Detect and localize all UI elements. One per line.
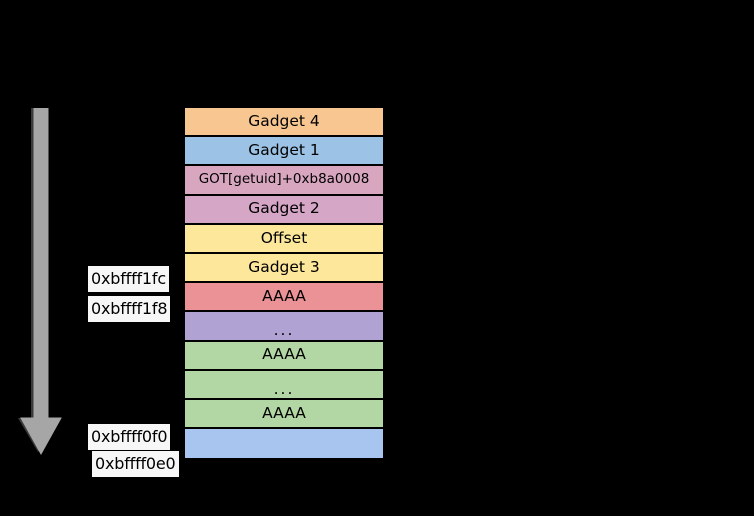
stack-row-label: ... xyxy=(274,323,295,339)
stack-row: AAAA xyxy=(185,400,383,429)
address-label-0xbffff1f8: 0xbffff1f8 xyxy=(88,296,170,322)
rop-chain-stack: Gadget 4Gadget 1GOT[getuid]+0xb8a0008Gad… xyxy=(183,106,385,460)
stack-row: Gadget 4 xyxy=(185,108,383,137)
address-label-0xbffff1fc: 0xbffff1fc xyxy=(88,266,169,292)
stack-growth-arrow-body xyxy=(14,108,70,468)
stack-row-label: AAAA xyxy=(262,289,306,305)
stack-row: ... xyxy=(185,312,383,341)
stack-row-label: ... xyxy=(274,382,295,398)
stack-row-label: AAAA xyxy=(262,347,306,363)
stack-row: Gadget 1 xyxy=(185,137,383,166)
stack-row: GOT[getuid]+0xb8a0008 xyxy=(185,166,383,195)
stack-row-label: Gadget 2 xyxy=(248,201,320,217)
address-label-0xbffff0f0: 0xbffff0f0 xyxy=(88,424,170,450)
stack-row: Gadget 2 xyxy=(185,196,383,225)
stack-row: AAAA xyxy=(185,283,383,312)
stack-row: Offset xyxy=(185,225,383,254)
stack-row-label: GOT[getuid]+0xb8a0008 xyxy=(199,173,370,187)
stack-growth-arrow xyxy=(14,108,70,468)
stack-row-label: AAAA xyxy=(262,406,306,422)
stack-row-label: Offset xyxy=(261,231,308,247)
stack-row: ... xyxy=(185,371,383,400)
diagram-canvas: 0xbffff1fc 0xbffff1f8 0xbffff0f0 0xbffff… xyxy=(0,0,754,516)
stack-row-label: Gadget 4 xyxy=(248,114,320,130)
stack-row: Gadget 3 xyxy=(185,254,383,283)
stack-row: AAAA xyxy=(185,342,383,371)
stack-row xyxy=(185,429,383,458)
stack-row-label: Gadget 3 xyxy=(248,260,320,276)
address-label-0xbffff0e0: 0xbffff0e0 xyxy=(92,451,179,477)
stack-row-label: Gadget 1 xyxy=(248,143,320,159)
